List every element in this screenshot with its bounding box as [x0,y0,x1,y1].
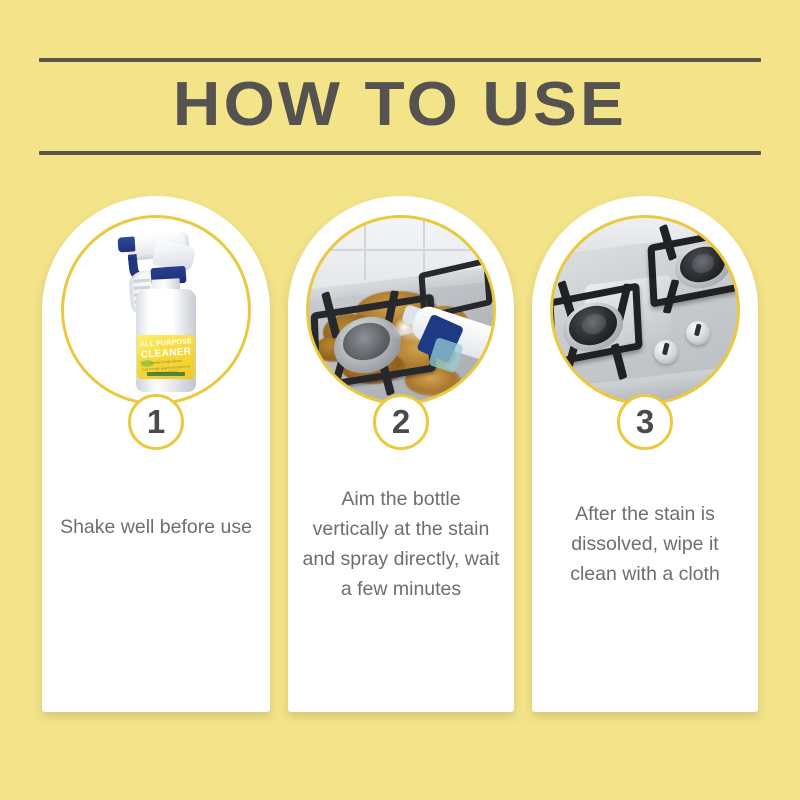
spray-bottle-product-photo: ALL PURPOSE CLEANER Lemon Fresh Scent Cu… [63,217,249,403]
bottle-nozzle-cap-icon [117,236,135,252]
bottle-label: ALL PURPOSE CLEANER Lemon Fresh Scent Cu… [137,335,195,379]
step-3-media [550,215,740,405]
step-1-number-badge: 1 [128,394,184,450]
step-2-number: 2 [392,405,410,438]
step-3-caption: After the stain is dissolved, wipe it cl… [546,499,744,589]
clean-gas-stove-photo [552,217,738,403]
header: HOW TO USE [0,58,800,155]
step-2-media [306,215,496,405]
step-1-number: 1 [147,405,165,438]
step-2-caption: Aim the bottle vertically at the stain a… [302,484,500,604]
title-rule-bottom [39,151,761,155]
photo-content [308,217,494,403]
step-card-2[interactable]: 2 Aim the bottle vertically at the stain… [288,196,514,712]
steps-row: ALL PURPOSE CLEANER Lemon Fresh Scent Cu… [0,196,800,726]
tile-grout-line [423,217,425,273]
dirty-gas-stove-being-sprayed-photo [308,217,494,403]
step-2-number-badge: 2 [373,394,429,450]
bottle-base [136,379,196,392]
tile-grout-line [308,249,494,251]
spray-bottle-illustration: ALL PURPOSE CLEANER Lemon Fresh Scent Cu… [108,231,204,393]
page-title: HOW TO USE [0,62,800,151]
step-1-media: ALL PURPOSE CLEANER Lemon Fresh Scent Cu… [61,215,251,405]
step-3-number: 3 [636,405,654,438]
step-card-3[interactable]: 3 After the stain is dissolved, wipe it … [532,196,758,712]
step-card-1[interactable]: ALL PURPOSE CLEANER Lemon Fresh Scent Cu… [42,196,270,712]
step-1-caption: Shake well before use [56,512,256,542]
step-3-number-badge: 3 [617,394,673,450]
photo-content [552,217,738,403]
label-brand-bar [147,372,185,376]
